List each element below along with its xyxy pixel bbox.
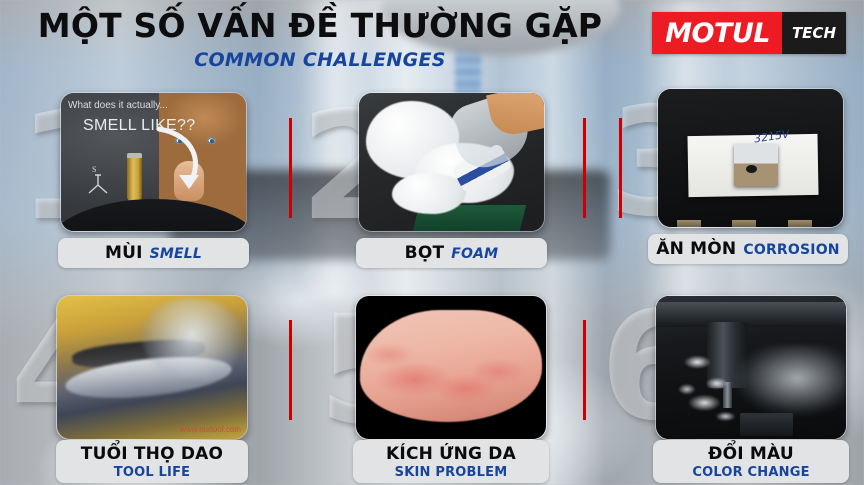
card-color-change-image[interactable] bbox=[655, 295, 847, 440]
irritated-arm bbox=[360, 310, 542, 422]
divider-red-3 bbox=[619, 118, 622, 218]
card-smell-image[interactable]: What does it actually... SMELL LIKE?? S … bbox=[60, 92, 247, 232]
card-color-change-label-en: COLOR CHANGE bbox=[692, 465, 809, 480]
card-corrosion-label-vn: ĂN MÒN bbox=[656, 239, 736, 259]
card-tool-life-label-en: TOOL LIFE bbox=[114, 465, 190, 480]
tool-wear-illustration: www.ourtool.com bbox=[57, 296, 247, 439]
slide-root: 1 2 3 4 5 6 MỘT SỐ VẤN ĐỀ THƯỜNG GẶP COM… bbox=[0, 0, 864, 485]
card-skin-problem-image[interactable] bbox=[355, 295, 547, 440]
molecule-icon: S bbox=[81, 163, 115, 199]
skin-irritation-illustration bbox=[356, 296, 546, 439]
page-title: MỘT SỐ VẤN ĐỀ THƯỜNG GẶP bbox=[0, 8, 640, 44]
chalk-caption-top: What does it actually... bbox=[68, 100, 168, 111]
image-watermark-url: www.ourtool.com bbox=[180, 425, 241, 434]
card-corrosion-label-en: CORROSION bbox=[743, 242, 839, 258]
cnc-machining-illustration bbox=[656, 296, 846, 439]
card-tool-life-image[interactable]: www.ourtool.com bbox=[56, 295, 248, 440]
card-tool-life-label-vn: TUỔI THỌ DAO bbox=[81, 444, 223, 464]
card-corrosion-label: ĂN MÒN CORROSION bbox=[648, 234, 848, 264]
card-skin-problem-label-en: SKIN PROBLEM bbox=[395, 465, 508, 480]
card-smell-label-en: SMELL bbox=[150, 246, 202, 262]
workpiece-vise bbox=[740, 413, 793, 436]
logo-brand-text: MOTUL bbox=[652, 12, 782, 54]
corrosion-illustration: 3215V bbox=[658, 89, 843, 227]
foam-illustration bbox=[359, 93, 544, 231]
divider-red-5 bbox=[583, 320, 586, 420]
card-smell-label: MÙI SMELL bbox=[58, 238, 249, 268]
divider-red-1 bbox=[289, 118, 292, 218]
svg-text:S: S bbox=[92, 165, 96, 174]
logo-suffix-text: TECH bbox=[782, 12, 846, 54]
spindle-head bbox=[656, 302, 846, 328]
page-subtitle: COMMON CHALLENGES bbox=[0, 49, 640, 71]
tray-foot-2 bbox=[732, 220, 756, 227]
card-color-change-label: ĐỔI MÀU COLOR CHANGE bbox=[653, 440, 849, 483]
tray-foot-1 bbox=[677, 220, 701, 227]
card-skin-problem-label: KÍCH ỨNG DA SKIN PROBLEM bbox=[353, 440, 549, 483]
card-smell-label-vn: MÙI bbox=[105, 243, 143, 263]
divider-red-4 bbox=[289, 320, 292, 420]
metal-test-block bbox=[734, 144, 778, 185]
card-tool-life-label: TUỔI THỌ DAO TOOL LIFE bbox=[56, 440, 248, 483]
smell-illustration: What does it actually... SMELL LIKE?? S … bbox=[61, 93, 246, 231]
card-skin-problem-label-vn: KÍCH ỨNG DA bbox=[386, 444, 516, 464]
card-foam-image[interactable] bbox=[358, 92, 545, 232]
motul-tech-logo: MOTUL TECH bbox=[652, 12, 846, 54]
card-foam-label-vn: BỌT bbox=[405, 243, 445, 263]
card-corrosion-image[interactable]: 3215V bbox=[657, 88, 844, 228]
arrow-icon bbox=[153, 123, 213, 203]
header: MỘT SỐ VẤN ĐỀ THƯỜNG GẶP COMMON CHALLENG… bbox=[0, 8, 640, 71]
sample-vial bbox=[127, 153, 142, 201]
card-foam-label: BỌT FOAM bbox=[356, 238, 547, 268]
card-foam-label-en: FOAM bbox=[451, 246, 498, 262]
card-color-change-label-vn: ĐỔI MÀU bbox=[708, 444, 794, 464]
tray-foot-3 bbox=[788, 220, 812, 227]
divider-red-2 bbox=[583, 118, 586, 218]
block-bore-hole bbox=[746, 165, 757, 173]
